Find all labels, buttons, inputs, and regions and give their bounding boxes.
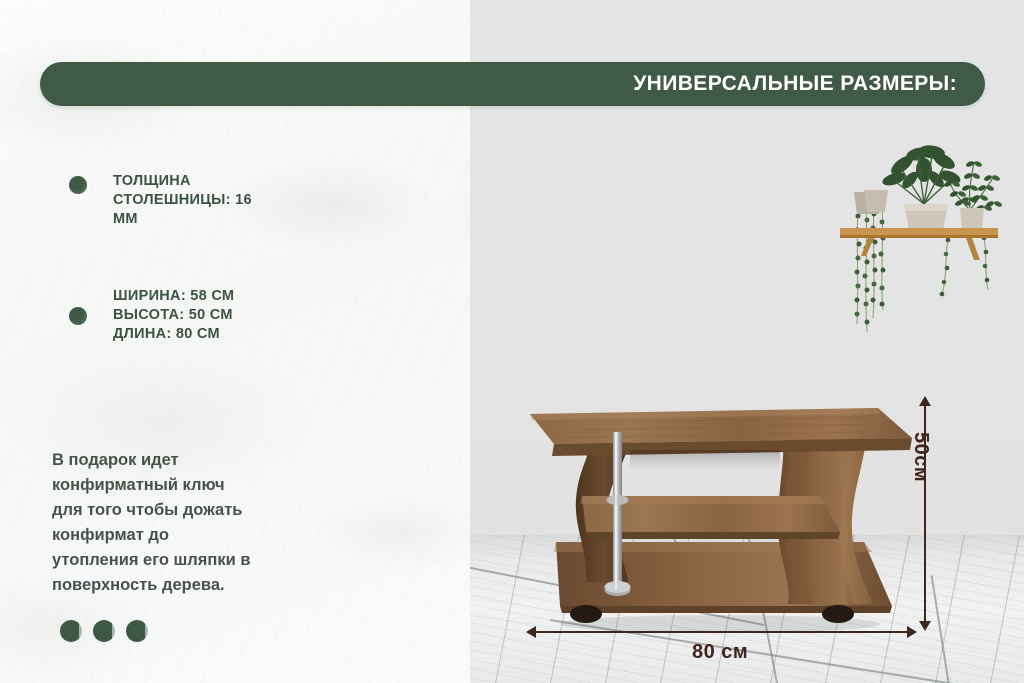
height-arrow-down-icon — [919, 621, 931, 631]
height-arrow-up-icon — [919, 396, 931, 406]
coffee-table-photo — [520, 392, 920, 632]
width-arrow-left-icon — [526, 626, 536, 638]
gift-note-text: В подарок идет конфирматный ключ для тог… — [52, 448, 312, 598]
page-title: УНИВЕРСАЛЬНЫЕ РАЗМЕРЫ: — [633, 72, 985, 96]
spec-item-thickness: ТОЛЩИНА СТОЛЕШНИЦЫ: 16 ММ — [69, 172, 252, 229]
width-dimension-line — [533, 631, 913, 633]
decor-circle-3 — [126, 620, 148, 642]
spec-item-dimensions: ШИРИНА: 58 СМ ВЫСОТА: 50 СМ ДЛИНА: 80 СМ — [69, 287, 234, 344]
decor-circle-2 — [93, 620, 115, 642]
bullet-dot-icon — [69, 176, 87, 194]
decorative-circles — [60, 620, 148, 642]
width-dimension-label: 80 см — [692, 641, 748, 664]
header-banner: УНИВЕРСАЛЬНЫЕ РАЗМЕРЫ: — [40, 62, 985, 106]
wall-shelf-with-plants-illustration — [832, 132, 1012, 347]
width-arrow-right-icon — [907, 626, 917, 638]
spec-item-label: ТОЛЩИНА СТОЛЕШНИЦЫ: 16 ММ — [113, 172, 252, 229]
bullet-dot-icon — [69, 307, 87, 325]
spec-item-label: ШИРИНА: 58 СМ ВЫСОТА: 50 СМ ДЛИНА: 80 СМ — [113, 287, 234, 344]
slide-canvas: УНИВЕРСАЛЬНЫЕ РАЗМЕРЫ: ТОЛЩИНА СТОЛЕШНИЦ… — [0, 0, 1024, 683]
height-dimension-label: 50см — [909, 432, 932, 482]
decor-circle-1 — [60, 620, 82, 642]
